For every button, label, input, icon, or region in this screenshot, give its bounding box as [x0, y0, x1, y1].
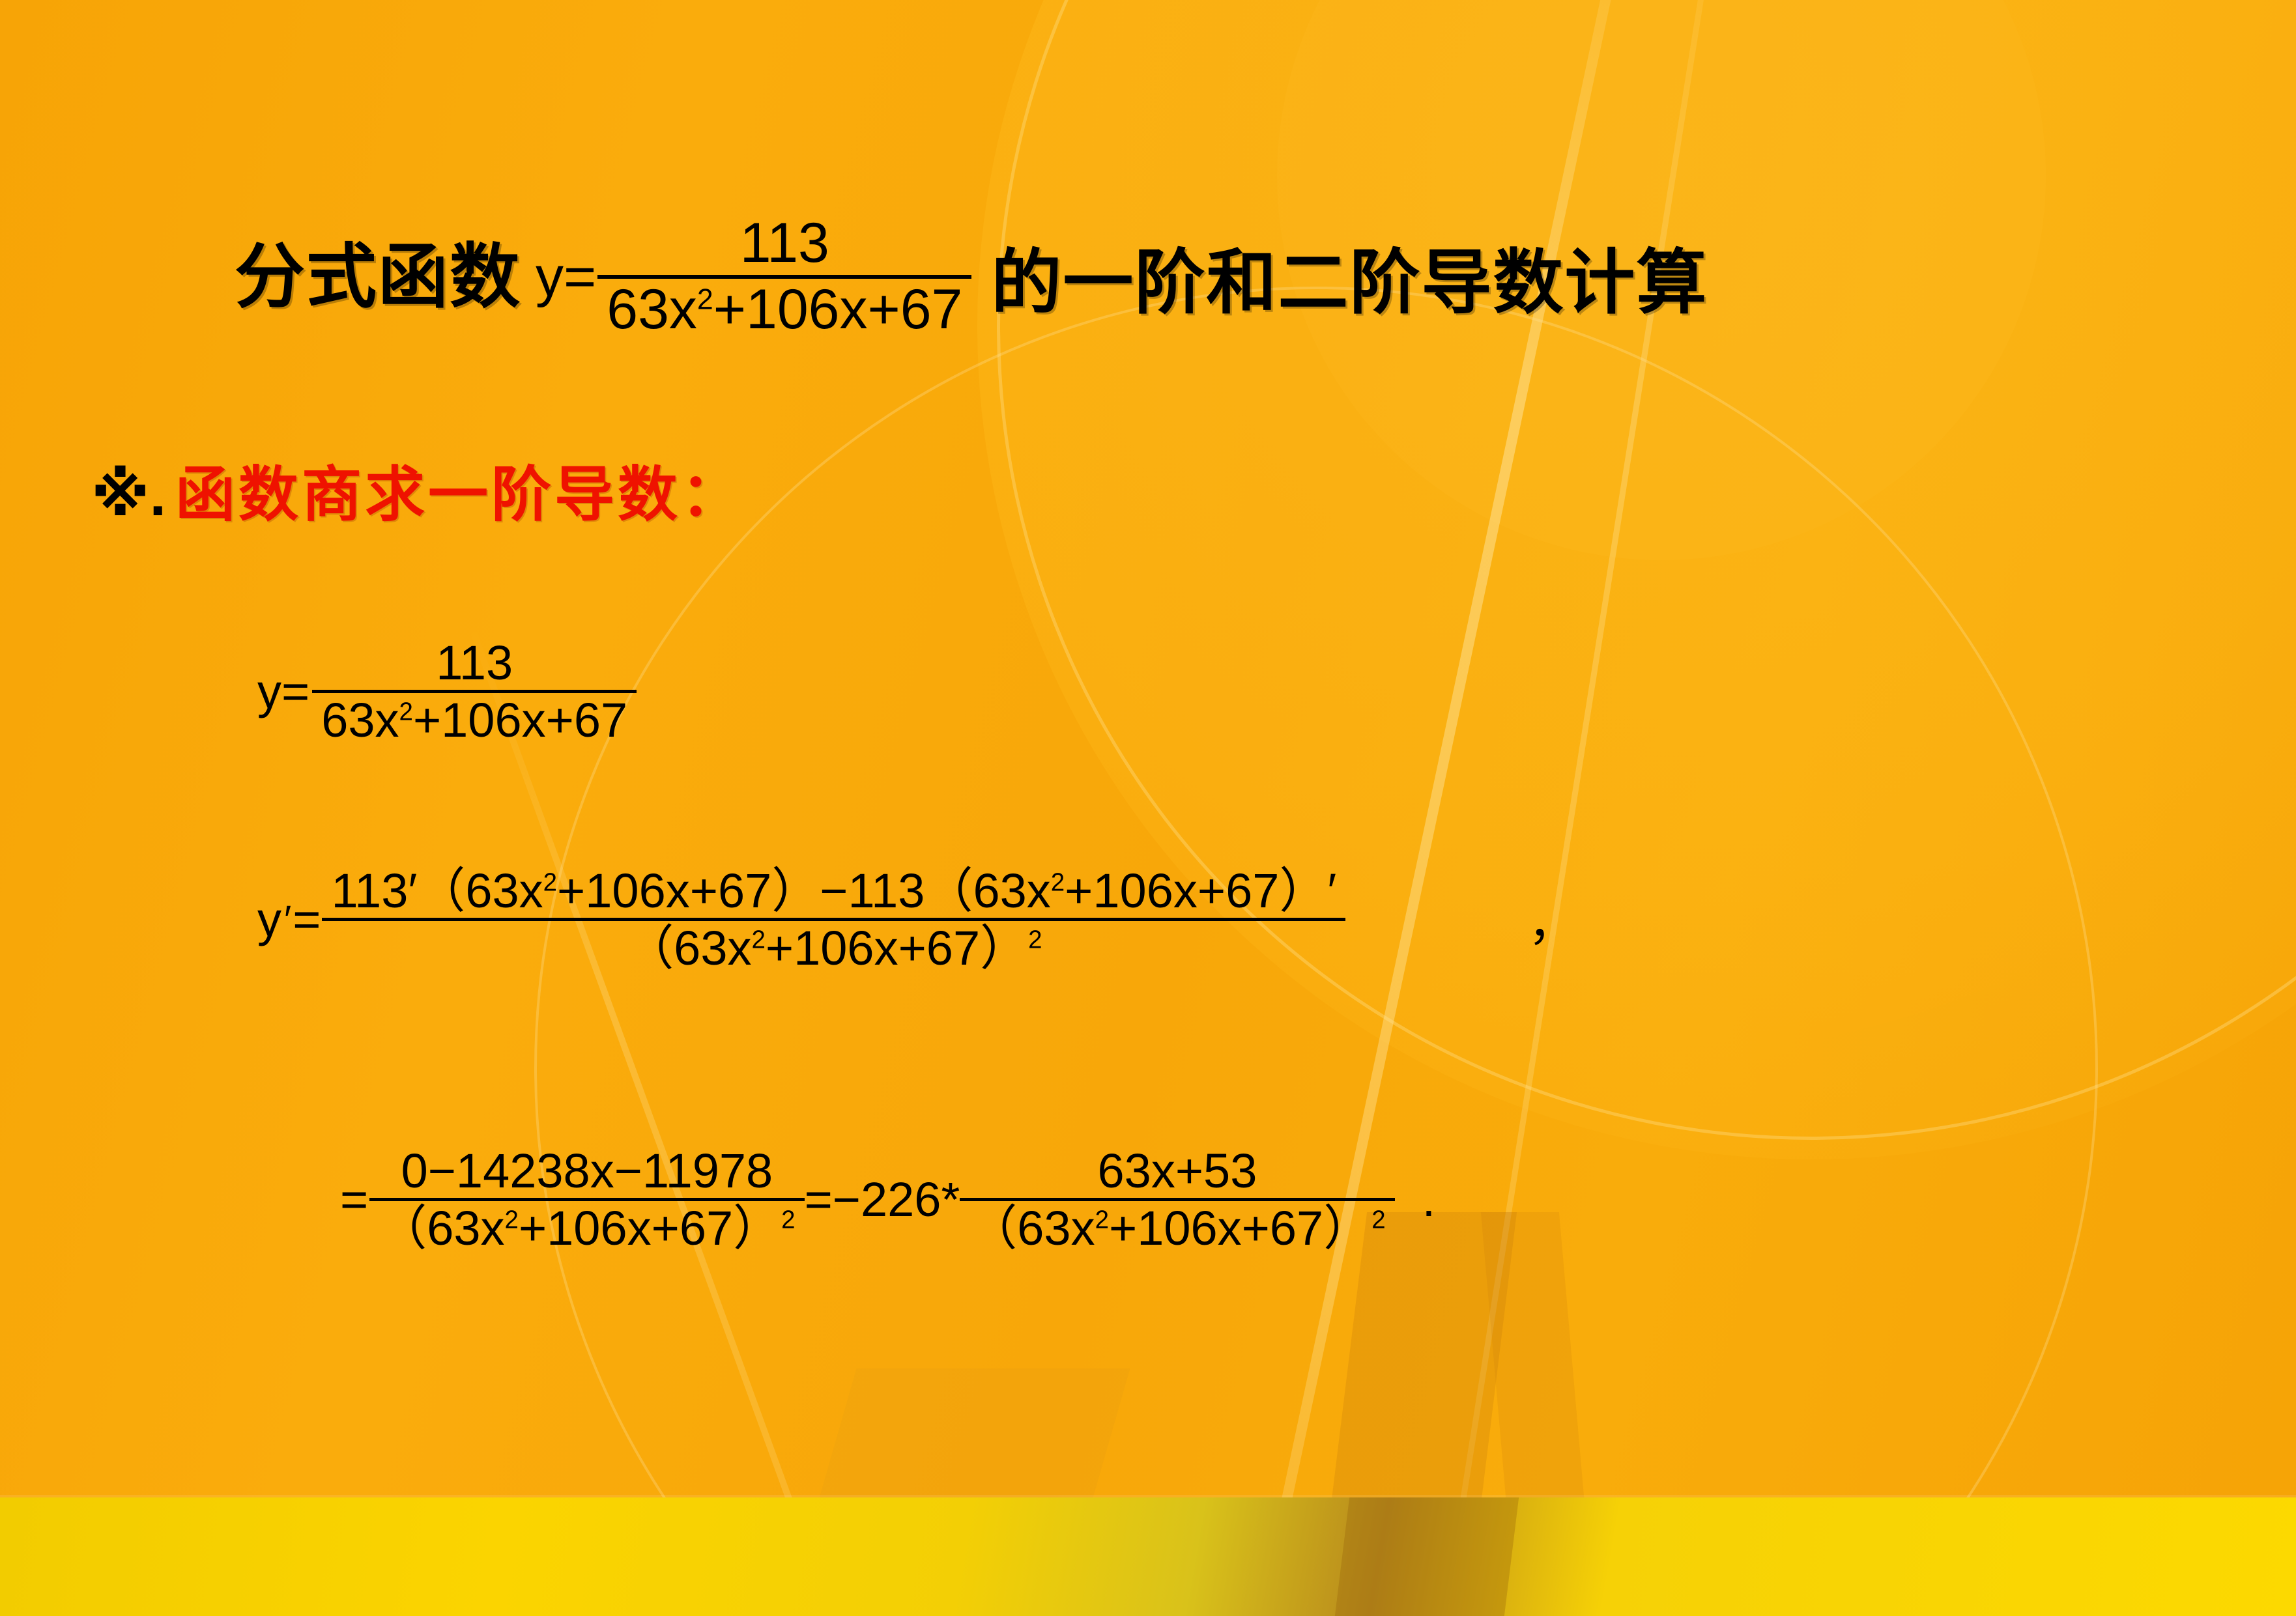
title-y-label: y= [536, 249, 596, 305]
eq2-fraction: 113′（63x2+106x+67）−113（63x2+106x+67）′ （6… [322, 866, 1345, 973]
background-band-edge [0, 1495, 2296, 1497]
equation-quotient-rule: y ′ = 113′（63x2+106x+67）−113（63x2+106x+6… [257, 866, 1576, 973]
eq2-equals-sign: = [293, 892, 321, 947]
eq3-equals-sign: = [340, 1172, 368, 1227]
eq3-middle-operator: =−226* [805, 1172, 960, 1227]
background-wedge [1317, 1212, 1517, 1616]
eq2-trailing-comma: ， [1528, 885, 1576, 954]
equation-original-function: y= 113 63x2+106x+67 [257, 638, 637, 745]
eq2-denominator: （63x2+106x+67）2 [616, 924, 1051, 972]
background-circle-large [977, 0, 2296, 1159]
title-fraction-denominator: 63x2+106x+67 [597, 281, 971, 339]
eq2-prime-mark: ′ [284, 897, 291, 942]
eq3-denominator-a: （63x2+106x+67）2 [369, 1204, 804, 1253]
eq3-fraction-a: 0−14238x−11978 （63x2+106x+67）2 [369, 1146, 804, 1253]
equation-simplified-derivative: = 0−14238x−11978 （63x2+106x+67）2 =−226* … [339, 1146, 1435, 1253]
eq3-denominator-b: （63x2+106x+67）2 [960, 1204, 1394, 1253]
title-lead-text: 分式函数 [235, 242, 521, 312]
title-fraction-numerator: 113 [731, 215, 839, 272]
eq1-denominator: 63x2+106x+67 [312, 696, 637, 744]
section-heading: ※. 函数商求一阶导数： [91, 446, 744, 533]
eq1-fraction: 113 63x2+106x+67 [312, 638, 637, 745]
page-title: 分式函数 y= 113 63x2+106x+67 的一阶和二阶导数计算 [235, 215, 1708, 338]
bottom-color-band [0, 1497, 2296, 1616]
eq1-numerator: 113 [427, 638, 522, 687]
title-fraction: 113 63x2+106x+67 [597, 215, 971, 338]
background-wedge [1481, 1212, 1594, 1616]
eq3-trailing-period: . [1422, 1172, 1436, 1227]
slide-canvas: 分式函数 y= 113 63x2+106x+67 的一阶和二阶导数计算 ※. 函… [0, 0, 2296, 1616]
reference-mark-icon: ※. [91, 460, 166, 530]
eq3-fraction-b: 63x+53 （63x2+106x+67）2 [960, 1146, 1394, 1253]
section-heading-text: 函数商求一阶导数： [175, 446, 744, 533]
eq1-lhs: y= [257, 664, 309, 719]
title-tail-text: 的一阶和二阶导数计算 [991, 226, 1708, 328]
eq3-numerator-b: 63x+53 [1089, 1146, 1267, 1195]
eq3-numerator-a: 0−14238x−11978 [392, 1146, 782, 1195]
eq2-lhs: y [257, 892, 281, 947]
background-light-streak [468, 625, 919, 1616]
background-wedge [786, 1368, 1130, 1616]
bottom-band-shadow [1335, 1497, 1519, 1616]
eq2-numerator: 113′（63x2+106x+67）−113（63x2+106x+67）′ [322, 866, 1345, 915]
